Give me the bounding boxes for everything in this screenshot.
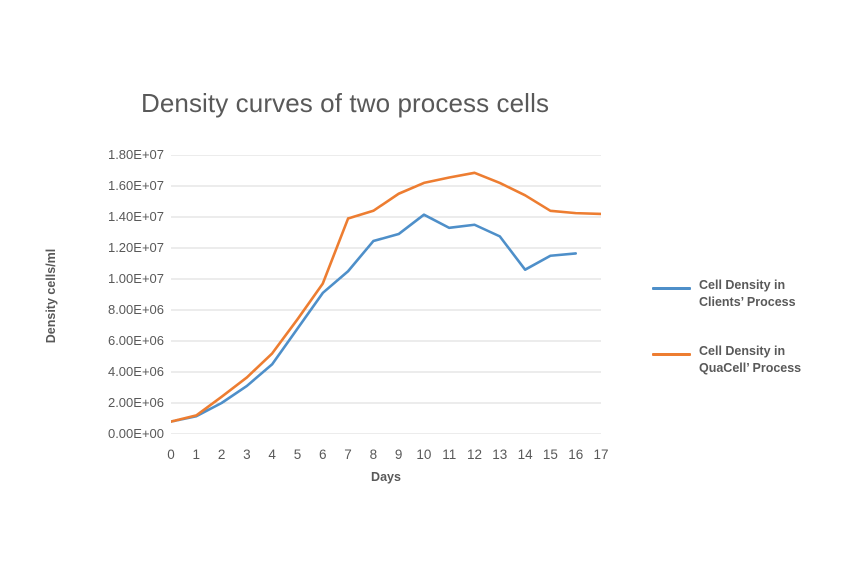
x-tick-label: 7 — [336, 446, 360, 464]
series-lines — [171, 173, 601, 422]
x-tick-label: 8 — [361, 446, 385, 464]
x-tick-label: 6 — [311, 446, 335, 464]
y-axis-title: Density cells/ml — [44, 216, 58, 376]
x-tick-label: 3 — [235, 446, 259, 464]
line-chart: Density curves of two process cells Dens… — [0, 0, 850, 567]
chart-title: Density curves of two process cells — [0, 88, 690, 119]
y-axis-tick-labels: 0.00E+002.00E+064.00E+066.00E+068.00E+06… — [88, 146, 164, 443]
x-tick-label: 0 — [159, 446, 183, 464]
x-axis-title: Days — [171, 470, 601, 484]
x-tick-label: 5 — [285, 446, 309, 464]
legend-item[interactable]: Cell Density in QuaCell’ Process — [652, 341, 850, 387]
x-tick-label: 15 — [538, 446, 562, 464]
x-tick-label: 10 — [412, 446, 436, 464]
x-tick-label: 13 — [488, 446, 512, 464]
x-tick-label: 14 — [513, 446, 537, 464]
y-tick-label: 8.00E+06 — [88, 303, 164, 317]
y-tick-label: 1.80E+07 — [88, 148, 164, 162]
x-tick-label: 12 — [463, 446, 487, 464]
legend-color-swatch — [652, 353, 691, 356]
y-tick-label: 1.40E+07 — [88, 210, 164, 224]
x-tick-label: 17 — [589, 446, 613, 464]
x-tick-label: 2 — [210, 446, 234, 464]
plot-svg — [171, 155, 601, 434]
x-tick-label: 4 — [260, 446, 284, 464]
series-line-2 — [171, 173, 601, 422]
legend-item-label: Cell Density in Clients’ Process — [699, 277, 850, 311]
y-tick-label: 6.00E+06 — [88, 334, 164, 348]
legend-color-swatch — [652, 287, 691, 290]
x-tick-label: 9 — [387, 446, 411, 464]
x-tick-label: 1 — [184, 446, 208, 464]
legend-item-label: Cell Density in QuaCell’ Process — [699, 343, 850, 377]
y-tick-label: 1.00E+07 — [88, 272, 164, 286]
y-tick-label: 1.20E+07 — [88, 241, 164, 255]
y-tick-label: 1.60E+07 — [88, 179, 164, 193]
x-axis-tick-labels: 01234567891011121314151617 — [171, 446, 601, 466]
y-tick-label: 2.00E+06 — [88, 396, 164, 410]
x-tick-label: 11 — [437, 446, 461, 464]
y-tick-label: 4.00E+06 — [88, 365, 164, 379]
x-tick-label: 16 — [564, 446, 588, 464]
plot-area — [171, 155, 601, 434]
y-tick-label: 0.00E+00 — [88, 427, 164, 441]
legend-item[interactable]: Cell Density in Clients’ Process — [652, 275, 850, 321]
